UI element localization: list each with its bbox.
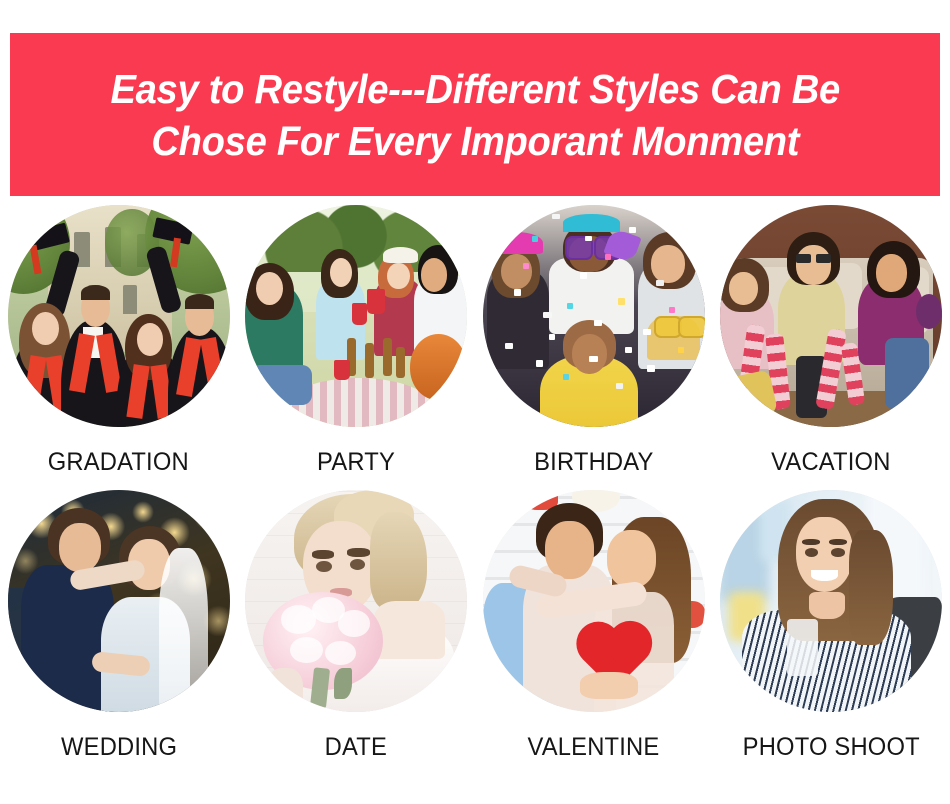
occasion-card-vacation[interactable]: VACATION [713, 205, 950, 490]
occasion-photo-valentine [483, 490, 705, 712]
headline-line-1: Easy to Restyle---Different Styles Can B… [110, 63, 840, 115]
occasion-card-valentine[interactable]: VALENTINE [475, 490, 713, 775]
occasion-photo-birthday-wrap[interactable]: BIRTHDAY [475, 205, 713, 490]
occasion-photo-date [245, 490, 467, 712]
occasion-photo-photo-shoot [720, 490, 942, 712]
occasion-card-wedding[interactable]: WEDDING [0, 490, 238, 775]
occasion-card-date[interactable]: DATE [238, 490, 476, 775]
occasion-card-gradation[interactable]: GRADATION [0, 205, 238, 490]
occasion-card-photo-shoot[interactable]: PHOTO SHOOT [713, 490, 950, 775]
occasion-label-gradation: GRADATION [48, 448, 189, 477]
occasion-label-photo-shoot: PHOTO SHOOT [743, 733, 920, 762]
occasion-grid: GRADATION [0, 205, 950, 775]
occasion-photo-vacation [720, 205, 942, 427]
occasion-label-date: DATE [325, 733, 387, 762]
headline-line-2: Chose For Every Imporant Monment [151, 115, 799, 167]
occasion-label-vacation: VACATION [772, 448, 891, 477]
occasion-label-birthday: BIRTHDAY [534, 448, 653, 477]
headline-banner: Easy to Restyle---Different Styles Can B… [10, 33, 940, 196]
occasion-card-party[interactable]: PARTY [238, 205, 476, 490]
occasion-label-valentine: VALENTINE [528, 733, 660, 762]
occasion-photo-wedding [8, 490, 230, 712]
occasion-label-party: PARTY [317, 448, 395, 477]
occasion-photo-party [245, 205, 467, 427]
occasion-label-wedding: WEDDING [61, 733, 177, 762]
occasion-photo-gradation [8, 205, 230, 427]
occasion-photo-birthday [483, 205, 705, 427]
